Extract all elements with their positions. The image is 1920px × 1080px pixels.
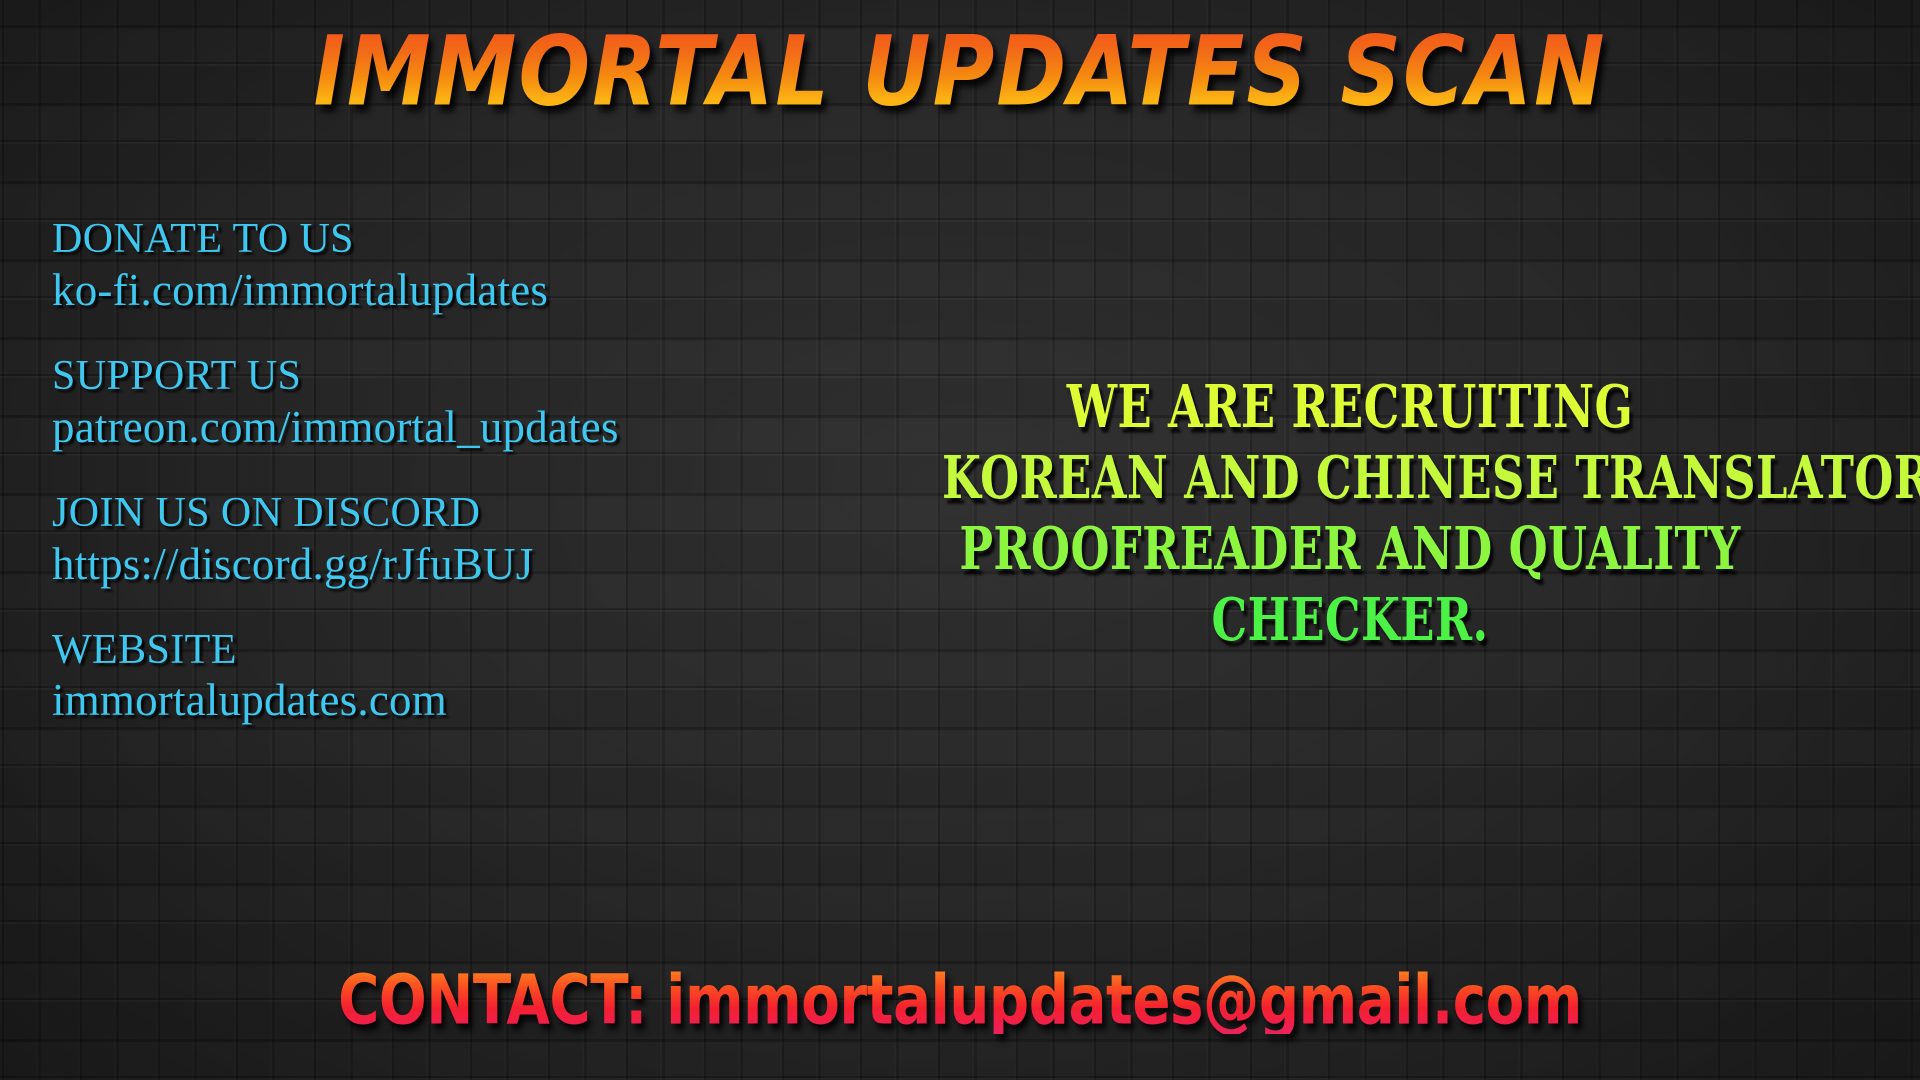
link-group-support: SUPPORT US patreon.com/immortal_updates [52, 352, 812, 453]
link-group-discord: JOIN US ON DISCORD https://discord.gg/rJ… [52, 489, 812, 590]
website-url[interactable]: immortalupdates.com [52, 674, 812, 726]
link-group-website: WEBSITE immortalupdates.com [52, 626, 812, 727]
recruiting-line-4: CHECKER. [942, 583, 1758, 658]
discord-url[interactable]: https://discord.gg/rJfuBUJ [52, 538, 812, 590]
support-label: SUPPORT US [52, 352, 812, 401]
discord-label: JOIN US ON DISCORD [52, 489, 812, 538]
recruiting-notice: WE ARE RECRUITING KOREAN AND CHINESE TRA… [840, 372, 1860, 656]
recruiting-line-1: WE ARE RECRUITING [942, 370, 1758, 445]
recruiting-line-2: KOREAN AND CHINESE TRANSLATOR, [942, 441, 1758, 516]
website-label: WEBSITE [52, 626, 812, 675]
contact-email-address[interactable]: immortalupdates@gmail.com [666, 960, 1582, 1040]
contact-label: CONTACT: [338, 960, 647, 1040]
link-group-donate: DONATE TO US ko-fi.com/immortalupdates [52, 215, 812, 316]
donate-label: DONATE TO US [52, 215, 812, 264]
scanlation-credits-banner: IMMORTAL UPDATES SCAN DONATE TO US ko-fi… [0, 0, 1920, 1080]
donate-url[interactable]: ko-fi.com/immortalupdates [52, 264, 812, 316]
page-title: IMMORTAL UPDATES SCAN [19, 24, 1901, 120]
contact-links-list: DONATE TO US ko-fi.com/immortalupdates S… [52, 215, 812, 727]
recruiting-line-3: PROOFREADER AND QUALITY [942, 512, 1758, 587]
contact-email-line[interactable]: CONTACT: immortalupdates@gmail.com [29, 966, 1891, 1034]
support-url[interactable]: patreon.com/immortal_updates [52, 401, 812, 453]
